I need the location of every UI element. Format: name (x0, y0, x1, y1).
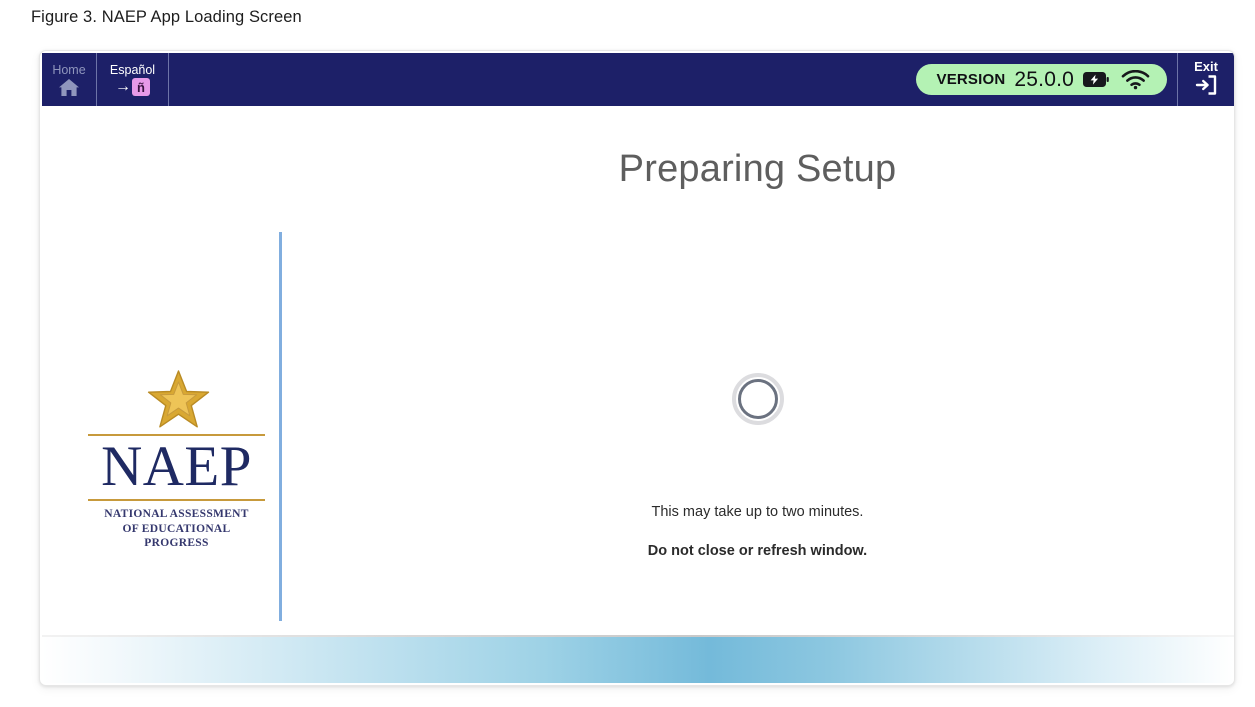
home-icon (58, 78, 80, 97)
loading-spinner-icon (732, 373, 784, 425)
app-content-area: NAEP NATIONAL ASSESSMENT OF EDUCATIONAL … (42, 106, 1234, 632)
home-button[interactable]: Home (42, 53, 97, 106)
page-title: Preparing Setup (42, 148, 1234, 191)
header-spacer (169, 53, 916, 106)
naep-app-window: Home Español → ñ VERSION 25.0.0 (39, 50, 1235, 686)
home-button-label: Home (52, 63, 85, 77)
espanol-button[interactable]: Español → ñ (97, 53, 169, 106)
spinner-container (42, 373, 1234, 425)
exit-button-label: Exit (1194, 60, 1218, 74)
naep-wordmark: NAEP (88, 437, 265, 497)
figure-caption: Figure 3. NAEP App Loading Screen (31, 8, 302, 27)
espanol-button-label: Español (110, 63, 155, 77)
exit-door-icon (1195, 75, 1217, 100)
version-label: VERSION (936, 71, 1005, 88)
vertical-divider (279, 232, 282, 621)
footer-gradient-bar (42, 637, 1234, 683)
n-tilde-badge: ñ (132, 78, 150, 96)
version-status-pill: VERSION 25.0.0 (916, 64, 1167, 95)
naep-subtitle-line-2: OF EDUCATIONAL (88, 522, 265, 537)
spinner-ring (738, 379, 778, 419)
version-number: 25.0.0 (1014, 68, 1074, 92)
battery-charging-icon (1083, 71, 1110, 88)
logo-rule-bottom (88, 499, 265, 501)
wifi-icon (1121, 70, 1150, 90)
app-header-bar: Home Español → ñ VERSION 25.0.0 (42, 53, 1234, 106)
exit-button[interactable]: Exit (1177, 53, 1234, 106)
arrow-to-n-tilde-icon: → ñ (115, 78, 150, 96)
arrow-right-icon: → (115, 79, 131, 95)
loading-note-primary: This may take up to two minutes. (42, 504, 1234, 520)
loading-note-warning: Do not close or refresh window. (42, 543, 1234, 559)
